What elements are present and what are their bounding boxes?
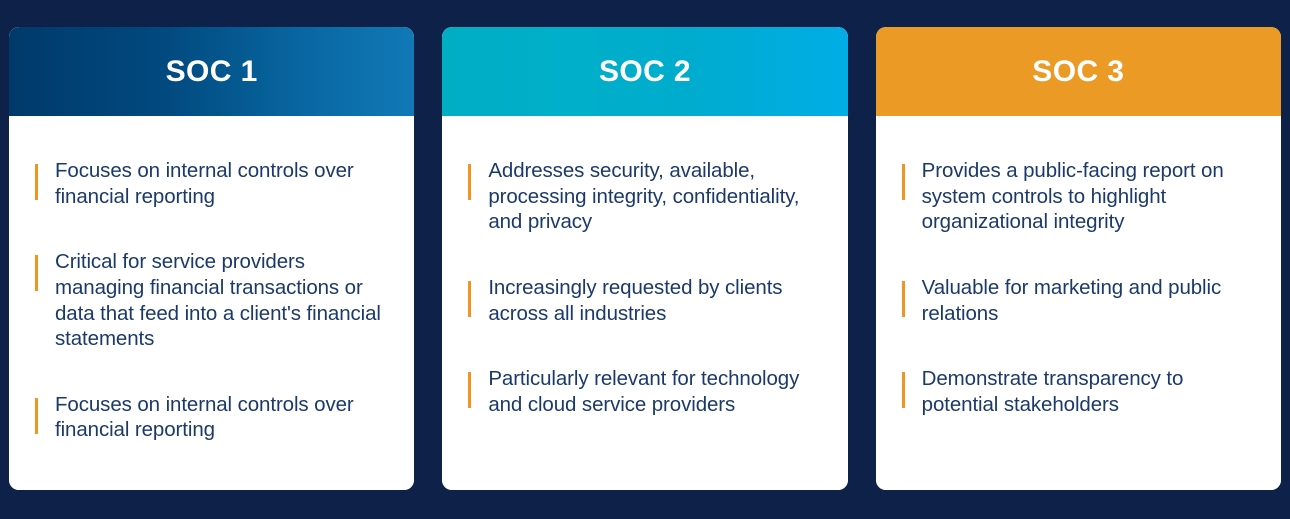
list-item-text: Particularly relevant for technology and… <box>488 366 821 417</box>
list-item-text: Focuses on internal controls over financ… <box>55 392 388 443</box>
card-soc-1-body: Focuses on internal controls over financ… <box>9 116 414 490</box>
list-item: Focuses on internal controls over financ… <box>35 392 388 443</box>
list-item-text: Increasingly requested by clients across… <box>488 275 821 326</box>
card-soc-1: SOC 1 Focuses on internal controls over … <box>9 27 414 490</box>
card-soc-3-body: Provides a public-facing report on syste… <box>876 116 1281 490</box>
card-soc-3-title: SOC 3 <box>1032 57 1124 87</box>
card-soc-2-body: Addresses security, available, processin… <box>442 116 847 490</box>
accent-bar-icon <box>468 164 471 200</box>
list-item-text: Provides a public-facing report on syste… <box>922 158 1252 235</box>
card-soc-1-bullet-list: Focuses on internal controls over financ… <box>35 158 388 443</box>
card-soc-2-header: SOC 2 <box>442 27 847 116</box>
accent-bar-icon <box>35 398 38 434</box>
accent-bar-icon <box>902 164 905 200</box>
card-soc-3: SOC 3 Provides a public-facing report on… <box>876 27 1281 490</box>
card-soc-2-title: SOC 2 <box>599 57 691 87</box>
list-item-text: Addresses security, available, processin… <box>488 158 821 235</box>
list-item: Critical for service providers managing … <box>35 249 388 352</box>
list-item: Demonstrate transparency to potential st… <box>902 366 1255 417</box>
card-soc-2: SOC 2 Addresses security, available, pro… <box>442 27 847 490</box>
card-soc-3-bullet-list: Provides a public-facing report on syste… <box>902 158 1255 417</box>
list-item-text: Demonstrate transparency to potential st… <box>922 366 1252 417</box>
list-item: Provides a public-facing report on syste… <box>902 158 1255 235</box>
accent-bar-icon <box>468 281 471 317</box>
list-item: Increasingly requested by clients across… <box>468 275 821 326</box>
list-item: Valuable for marketing and public relati… <box>902 275 1255 326</box>
list-item-text: Valuable for marketing and public relati… <box>922 275 1252 326</box>
card-soc-1-title: SOC 1 <box>166 57 258 87</box>
soc-comparison-board: SOC 1 Focuses on internal controls over … <box>0 0 1290 519</box>
list-item: Focuses on internal controls over financ… <box>35 158 388 209</box>
accent-bar-icon <box>468 372 471 408</box>
list-item: Particularly relevant for technology and… <box>468 366 821 417</box>
accent-bar-icon <box>902 372 905 408</box>
accent-bar-icon <box>35 164 38 200</box>
accent-bar-icon <box>35 255 38 291</box>
card-soc-3-header: SOC 3 <box>876 27 1281 116</box>
accent-bar-icon <box>902 281 905 317</box>
list-item-text: Focuses on internal controls over financ… <box>55 158 388 209</box>
card-soc-2-bullet-list: Addresses security, available, processin… <box>468 158 821 417</box>
list-item-text: Critical for service providers managing … <box>55 249 388 352</box>
card-soc-1-header: SOC 1 <box>9 27 414 116</box>
list-item: Addresses security, available, processin… <box>468 158 821 235</box>
